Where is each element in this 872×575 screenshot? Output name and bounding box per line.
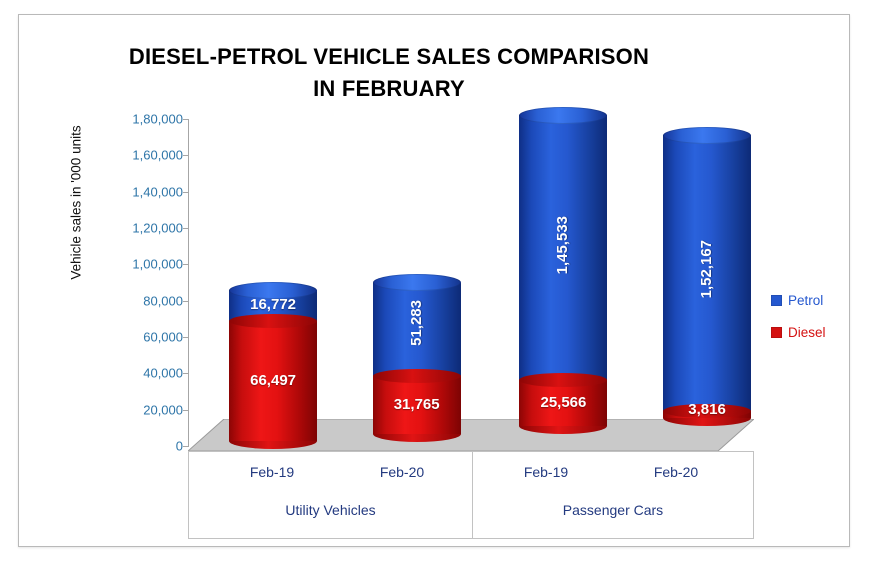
category-group-label: Utility Vehicles (189, 502, 472, 518)
bar-value-label-petrol: 1,52,167 (698, 240, 715, 298)
category-label-period: Feb-19 (207, 464, 337, 480)
y-axis-title: Vehicle sales in '000 units (69, 98, 84, 308)
chart-frame: DIESEL-PETROL VEHICLE SALES COMPARISON I… (18, 14, 850, 547)
y-tick-mark (183, 301, 189, 302)
legend-item-diesel[interactable]: Diesel (771, 325, 849, 340)
bar-3[interactable]: 1,45,53325,566 (519, 115, 607, 426)
cylinder-top-ellipse (663, 127, 751, 144)
category-group-label: Passenger Cars (473, 502, 753, 518)
category-label-period: Feb-20 (337, 464, 467, 480)
category-group-passenger-cars: Feb-19 Feb-20 Passenger Cars (473, 452, 753, 538)
y-tick-label: 1,00,000 (91, 257, 183, 272)
plot-area: Vehicle sales in '000 units 1,80,000 1,6… (19, 15, 851, 548)
bar-value-label-petrol: 1,45,533 (554, 216, 571, 274)
y-tick-label: 40,000 (91, 366, 183, 381)
y-tick-mark (183, 410, 189, 411)
y-tick-label: 80,000 (91, 293, 183, 308)
bar-4[interactable]: 1,52,1673,816 (663, 135, 751, 418)
bar-value-label-diesel: 31,765 (373, 396, 461, 413)
bar-value-label-diesel: 3,816 (663, 401, 751, 418)
category-axis: Feb-19 Feb-20 Utility Vehicles Feb-19 Fe… (188, 451, 754, 539)
bar-value-label-petrol: 51,283 (408, 300, 425, 346)
y-tick-mark (183, 337, 189, 338)
y-tick-label: 60,000 (91, 330, 183, 345)
legend-swatch-petrol-icon (771, 295, 782, 306)
bar-value-label-petrol: 16,772 (229, 296, 317, 313)
bar-value-label-diesel: 25,566 (519, 394, 607, 411)
y-tick-label: 1,80,000 (91, 112, 183, 127)
legend-item-petrol[interactable]: Petrol (771, 293, 849, 308)
bar-2[interactable]: 51,28331,765 (373, 283, 461, 434)
y-tick-label: 1,60,000 (91, 148, 183, 163)
bar-value-label-diesel: 66,497 (229, 372, 317, 389)
category-group-utility-vehicles: Feb-19 Feb-20 Utility Vehicles (189, 452, 472, 538)
bar-1[interactable]: 16,77266,497 (229, 290, 317, 441)
legend-label-diesel: Diesel (788, 325, 826, 340)
cylinder-top-ellipse (519, 107, 607, 124)
y-axis-tick-labels: 1,80,000 1,60,000 1,40,000 1,20,000 1,00… (91, 15, 183, 548)
y-tick-mark (183, 119, 189, 120)
y-tick-label: 20,000 (91, 402, 183, 417)
y-tick-label: 1,40,000 (91, 184, 183, 199)
y-tick-mark (183, 192, 189, 193)
y-tick-mark (183, 264, 189, 265)
y-tick-label: 1,20,000 (91, 221, 183, 236)
category-label-period: Feb-19 (481, 464, 611, 480)
y-axis-line (188, 119, 189, 446)
category-label-period: Feb-20 (611, 464, 741, 480)
legend-swatch-diesel-icon (771, 327, 782, 338)
y-tick-mark (183, 373, 189, 374)
y-tick-mark (183, 228, 189, 229)
y-tick-mark (183, 155, 189, 156)
chart-legend: Petrol Diesel (771, 293, 849, 357)
legend-label-petrol: Petrol (788, 293, 823, 308)
y-tick-label: 0 (91, 439, 183, 454)
